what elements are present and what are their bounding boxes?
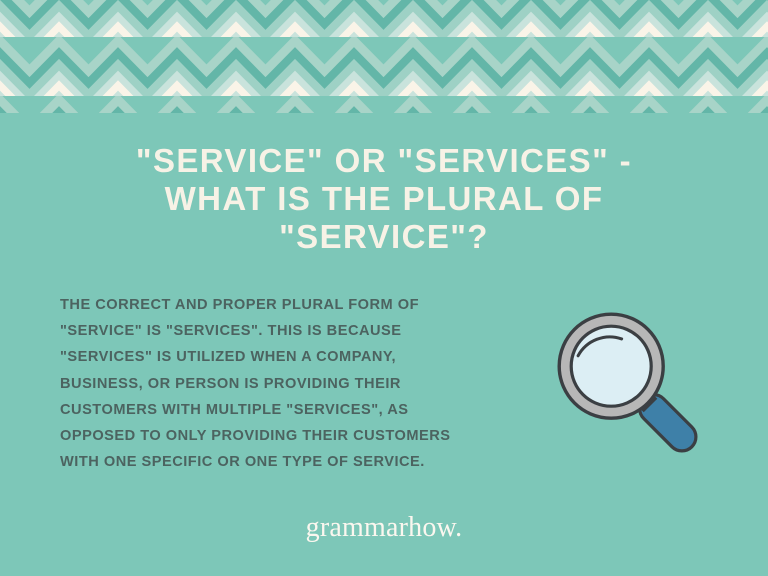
body-paragraph: THE CORRECT AND PROPER PLURAL FORM OF "S… [60,292,530,475]
brand-logo-text: grammarhow. [306,512,463,543]
magnifying-glass-icon [536,296,726,476]
page-title: "SERVICE" OR "SERVICES" - WHAT IS THE PL… [0,142,768,256]
body-line-3: "SERVICES" IS UTILIZED WHEN A COMPANY, [60,344,530,370]
brand-logo: grammarhow. [0,512,768,544]
title-line-2: WHAT IS THE PLURAL OF [64,180,704,218]
title-line-1: "SERVICE" OR "SERVICES" - [64,142,704,180]
body-line-6: OPPOSED TO ONLY PROVIDING THEIR CUSTOMER… [60,423,530,449]
body-line-5: CUSTOMERS WITH MULTIPLE "SERVICES", AS [60,397,530,423]
body-line-2: "SERVICE" IS "SERVICES". THIS IS BECAUSE [60,318,530,344]
body-line-7: WITH ONE SPECIFIC OR ONE TYPE OF SERVICE… [60,449,530,475]
body-line-4: BUSINESS, OR PERSON IS PROVIDING THEIR [60,371,530,397]
body-line-1: THE CORRECT AND PROPER PLURAL FORM OF [60,292,530,318]
chevron-band [0,0,768,113]
title-line-3: "SERVICE"? [64,218,704,256]
article-card: "SERVICE" OR "SERVICES" - WHAT IS THE PL… [0,0,768,576]
